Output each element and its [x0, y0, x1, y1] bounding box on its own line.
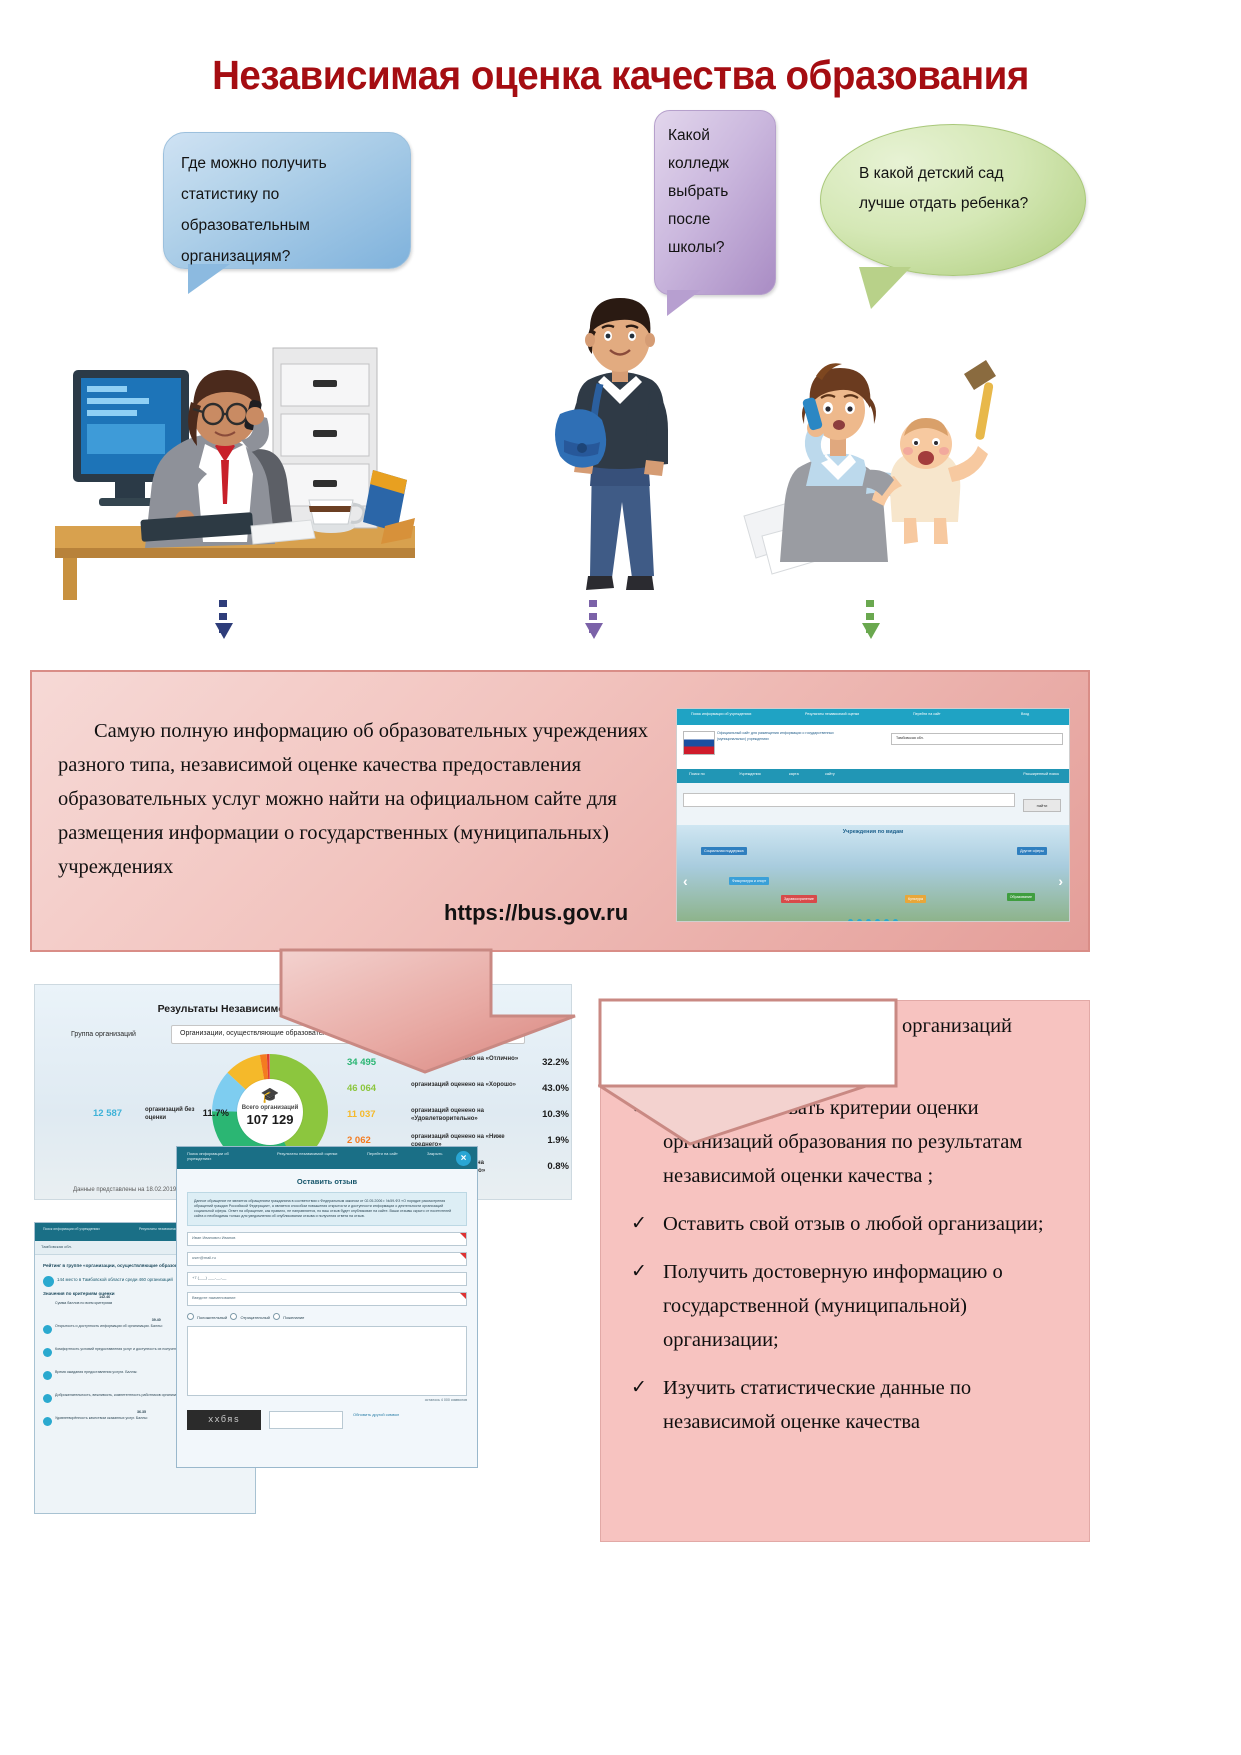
- captcha-refresh-link[interactable]: Обновить другой символ: [353, 1412, 399, 1418]
- review-form-title: Оставить отзыв: [177, 1169, 477, 1192]
- stat-pct-3: 1.9%: [547, 1135, 569, 1146]
- bus-gov-ru-url[interactable]: https://bus.gov.ru: [444, 900, 628, 926]
- checklist-item-4-text: Изучить статистические данные по независ…: [663, 1377, 971, 1433]
- site-nav-item-3[interactable]: сайту: [825, 772, 835, 776]
- rating-topbar-item-0[interactable]: Поиск информации об учреждениях: [43, 1227, 113, 1232]
- checklist-item-4: ✓ Изучить статистические данные по незав…: [627, 1371, 1067, 1439]
- radio-positive-icon[interactable]: [187, 1313, 194, 1320]
- site-topbar: Поиск информации об учреждениях Результа…: [677, 709, 1069, 725]
- stat-no-evaluation-pct: 11.7%: [203, 1108, 229, 1119]
- page-title: Независимая оценка качества образования: [37, 52, 1204, 99]
- speech-bubble-statistics: Где можно получить статистику по образов…: [163, 132, 411, 269]
- stat-text-1: организаций оценено на «Хорошо»: [411, 1081, 523, 1089]
- stat-pct-4: 0.8%: [547, 1161, 569, 1172]
- dashboard-footnote: Данные представлены на 18.02.2019: [73, 1187, 176, 1193]
- donut-center-value: 107 129: [237, 1113, 303, 1127]
- illustration-schoolboy: [530, 288, 710, 598]
- info-panel-text: Самую полную информацию об образовательн…: [58, 714, 678, 884]
- site-chip-5[interactable]: Культура: [905, 895, 926, 903]
- check-icon: ✓: [631, 1371, 647, 1405]
- stat-row-1: 46 064 организаций оценено на «Хорошо» 4…: [347, 1079, 571, 1105]
- stat-pct-1: 43.0%: [542, 1083, 569, 1094]
- group-label: Группа организаций: [71, 1031, 136, 1038]
- criterion-icon-3: [43, 1394, 52, 1403]
- site-banner-title: Учреждения по видам: [677, 829, 1069, 835]
- site-region-value: Тамбовская обл.: [896, 736, 924, 740]
- site-nav-item-0[interactable]: Поиск по: [689, 772, 705, 776]
- site-chip-1[interactable]: Другие сферы: [1017, 847, 1047, 855]
- rank-badge-icon: [43, 1276, 54, 1287]
- speech-bubble-kindergarten: В какой детский сад лучше отдать ребенка…: [820, 124, 1086, 276]
- close-icon[interactable]: ×: [456, 1151, 471, 1166]
- review-organization-placeholder: Введите наименование: [192, 1295, 236, 1300]
- review-disclaimer: Данное обращение не является обращением …: [187, 1192, 467, 1226]
- russian-flag-icon: [683, 731, 715, 755]
- site-nav-item-1[interactable]: Учреждения: [739, 772, 761, 776]
- illustration-mother-with-baby: [740, 340, 1010, 590]
- site-chip-4[interactable]: Здравоохранение: [781, 895, 817, 903]
- criterion-label-4: Удовлетворённость качеством оказанных ус…: [55, 1416, 148, 1420]
- criterion-icon-1: [43, 1348, 52, 1357]
- review-phone-input[interactable]: +7 (___) ___-__-__: [187, 1272, 467, 1286]
- leave-review-form-screenshot[interactable]: Поиск информации об учреждениях Результа…: [176, 1146, 478, 1468]
- review-text-area[interactable]: [187, 1326, 467, 1396]
- rating-region-value: Тамбовская обл.: [41, 1244, 72, 1249]
- arrow-green-head: [862, 623, 880, 656]
- required-marker-icon: [460, 1233, 466, 1239]
- review-email-placeholder: user@mail.ru: [192, 1255, 216, 1260]
- site-nav: Поиск по Учреждения карта сайту Расширен…: [677, 769, 1069, 783]
- criterion-icon-0: [43, 1325, 52, 1334]
- arrow-blue-head: [215, 623, 233, 656]
- site-search-input[interactable]: [683, 793, 1015, 807]
- site-topbar-item-1[interactable]: Результаты независимой оценки: [805, 712, 879, 717]
- arrow-purple-head: [585, 623, 603, 656]
- review-email-input[interactable]: user@mail.ru: [187, 1252, 467, 1266]
- stat-no-evaluation-count: 12 587: [93, 1108, 122, 1119]
- check-icon: ✓: [631, 1255, 647, 1289]
- required-marker-icon: [460, 1293, 466, 1299]
- site-header-title: Официальный сайт для размещения информац…: [717, 731, 837, 742]
- stat-no-evaluation: 12 587 организаций без оценки 11.7%: [93, 1105, 221, 1127]
- site-search-row: найти: [677, 783, 1069, 825]
- review-char-counter: осталось 4 000 символов: [187, 1398, 467, 1402]
- graduation-cap-icon: 🎓: [237, 1087, 303, 1105]
- site-region-select[interactable]: Тамбовская обл.: [891, 733, 1063, 745]
- site-chip-3[interactable]: Образование: [1007, 893, 1035, 901]
- checklist-item-3-text: Получить достоверную информацию о госуда…: [663, 1261, 1003, 1351]
- radio-positive-label: Положительный: [197, 1315, 227, 1320]
- stat-count-1: 46 064: [347, 1083, 376, 1094]
- criterion-total-label: Сумма баллов по всем критериям: [55, 1301, 112, 1305]
- arrow-purple: [585, 600, 601, 657]
- big-down-arrow: [275, 946, 615, 1076]
- radio-wish-label: Пожелание: [283, 1315, 304, 1320]
- captcha-input[interactable]: [269, 1411, 343, 1429]
- arrow-green: [862, 600, 878, 657]
- check-icon: ✓: [631, 1207, 647, 1241]
- radio-wish-icon[interactable]: [273, 1313, 280, 1320]
- review-phone-placeholder: +7 (___) ___-__-__: [192, 1275, 226, 1280]
- bus-gov-ru-site-screenshot[interactable]: Поиск информации об учреждениях Результа…: [676, 708, 1070, 922]
- site-search-button[interactable]: найти: [1023, 799, 1061, 812]
- criterion-label-0: Открытость и доступность информации об о…: [55, 1324, 163, 1328]
- stat-row-2: 11 037 организаций оценено на «Удовлетво…: [347, 1105, 571, 1131]
- site-topbar-item-3[interactable]: Вход: [1021, 712, 1057, 717]
- review-topbar-item-1[interactable]: Результаты независимой оценки: [277, 1151, 341, 1156]
- arrow-blue: [215, 600, 231, 657]
- site-chip-0[interactable]: Социальная поддержка: [701, 847, 747, 855]
- review-captcha: xxбяs Обновить другой символ: [187, 1410, 467, 1432]
- speech-bubble-statistics-text: Где можно получить статистику по образов…: [164, 133, 391, 272]
- stat-no-evaluation-text: организаций без оценки: [145, 1106, 201, 1122]
- stat-count-3: 2 062: [347, 1135, 371, 1146]
- criterion-icon-2: [43, 1371, 52, 1380]
- speech-bubble-college-text: Какой колледж выбрать после школы?: [655, 111, 768, 262]
- required-marker-icon: [460, 1253, 466, 1259]
- review-organization-input[interactable]: Введите наименование: [187, 1292, 467, 1306]
- review-topbar-item-2[interactable]: Перейти на сайт: [367, 1151, 411, 1156]
- stat-text-2: организаций оценено на «Удовлетворительн…: [411, 1107, 523, 1123]
- criterion-value-4: 36.35: [137, 1410, 146, 1415]
- radio-negative-icon[interactable]: [230, 1313, 237, 1320]
- site-topbar-item-0[interactable]: Поиск информации об учреждениях: [691, 712, 769, 717]
- review-name-input[interactable]: Иван Иванович Иванов: [187, 1232, 467, 1246]
- criterion-total-value: 142.46: [99, 1295, 110, 1300]
- site-chip-2[interactable]: Физкультура и спорт: [729, 877, 769, 885]
- checklist-item-2-text: Оставить свой отзыв о любой организации;: [663, 1213, 1044, 1235]
- criterion-label-2: Время ожидания предоставления услуги. Ба…: [55, 1370, 137, 1374]
- donut-center: 🎓 Всего организаций 107 129: [237, 1079, 303, 1145]
- criterion-value-0: 39.40: [152, 1318, 161, 1323]
- captcha-image: xxбяs: [187, 1410, 261, 1430]
- review-topbar: Поиск информации об учреждениях Результа…: [177, 1147, 477, 1169]
- bubble-tail-green: [859, 267, 911, 309]
- site-advanced-search-link[interactable]: Расширенный поиск: [1023, 772, 1059, 776]
- criterion-label-1: Комфортность условий предоставления услу…: [55, 1347, 194, 1351]
- site-topbar-item-2[interactable]: Перейти на сайт: [913, 712, 973, 717]
- speech-bubble-college: Какой колледж выбрать после школы?: [654, 110, 776, 295]
- checklist-item-2: ✓ Оставить свой отзыв о любой организаци…: [627, 1207, 1067, 1241]
- illustration-office-woman: [55, 330, 415, 600]
- stat-pct-2: 10.3%: [542, 1109, 569, 1120]
- review-topbar-item-0[interactable]: Поиск информации об учреждениях: [187, 1151, 251, 1161]
- site-header: Официальный сайт для размещения информац…: [677, 725, 1069, 769]
- rating-place-text: 144 место в Тамбовской области среди 460…: [57, 1277, 173, 1282]
- criterion-icon-4: [43, 1417, 52, 1426]
- review-name-placeholder: Иван Иванович Иванов: [192, 1235, 235, 1240]
- carousel-dots[interactable]: [677, 919, 1069, 922]
- site-banner: Учреждения по видам ‹ › Социальная подде…: [677, 825, 1069, 922]
- checklist-item-3: ✓ Получить достоверную информацию о госу…: [627, 1255, 1067, 1357]
- speech-bubble-kindergarten-text: В какой детский сад лучше отдать ребенка…: [821, 125, 1049, 219]
- radio-negative-label: Отрицательный: [240, 1315, 269, 1320]
- carousel-next-icon[interactable]: ›: [1058, 873, 1063, 889]
- review-type-radios[interactable]: Положительный Отрицательный Пожелание: [187, 1313, 467, 1320]
- site-nav-item-2[interactable]: карта: [789, 772, 799, 776]
- stat-count-2: 11 037: [347, 1109, 376, 1120]
- carousel-prev-icon[interactable]: ‹: [683, 873, 688, 889]
- site-search-button-label: найти: [1024, 800, 1060, 811]
- checklist-callout-tail: [598, 998, 898, 1148]
